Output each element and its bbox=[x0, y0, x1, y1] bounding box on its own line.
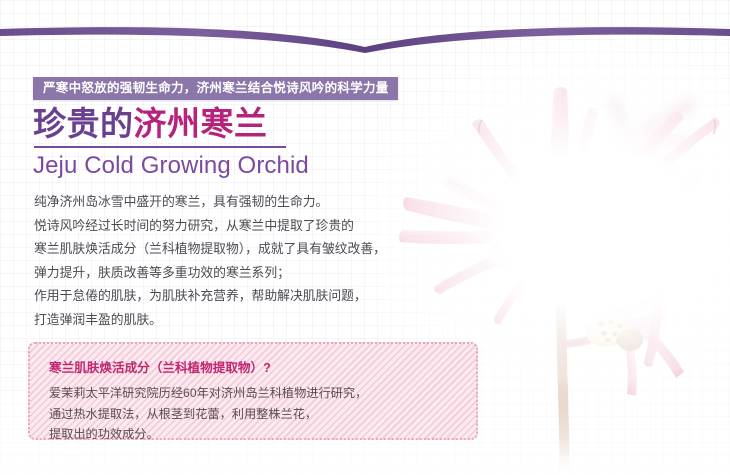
page-title: 珍贵的济州寒兰 bbox=[33, 104, 268, 144]
info-box-heading: 寒兰肌肤焕活成分（兰科植物提取物）? bbox=[49, 357, 476, 376]
title-underline-rule bbox=[34, 146, 286, 148]
tagline-banner: 严寒中怒放的强韧生命力，济州寒兰结合悦诗风吟的科学力量 bbox=[33, 77, 398, 100]
body-line: 悦诗风吟经过长时间的努力研究，从寒兰中提取了珍贵的 bbox=[34, 214, 444, 238]
info-box-body: 爱茉莉太平洋研究院历经60年对济州岛兰科植物进行研究， 通过热水提取法，从根茎到… bbox=[49, 383, 476, 445]
body-copy: 纯净济州岛冰雪中盛开的寒兰，具有强韧的生命力。 悦诗风吟经过长时间的努力研究，从… bbox=[34, 190, 444, 331]
top-purple-swoosh-divider bbox=[0, 0, 730, 62]
page-subtitle: Jeju Cold Growing Orchid bbox=[33, 150, 309, 182]
info-box-line: 通过热水提取法，从根茎到花蕾，利用整株兰花， bbox=[49, 404, 476, 425]
body-line: 纯净济州岛冰雪中盛开的寒兰，具有强韧的生命力。 bbox=[34, 190, 444, 214]
page-title-highlight: 济州寒兰 bbox=[134, 105, 268, 142]
body-line: 弹力提升，肤质改善等多重功效的寒兰系列； bbox=[34, 261, 444, 285]
page-title-prefix: 珍贵的 bbox=[33, 105, 134, 142]
info-box-line: 爱茉莉太平洋研究院历经60年对济州岛兰科植物进行研究， bbox=[49, 383, 476, 404]
body-line: 打造弹润丰盈的肌肤。 bbox=[34, 308, 444, 332]
info-box-line: 提取出的功效成分。 bbox=[49, 424, 476, 445]
body-line: 作用于怠倦的肌肤，为肌肤补充营养，帮助解决肌肤问题， bbox=[34, 284, 444, 308]
ingredient-info-box: 寒兰肌肤焕活成分（兰科植物提取物）? 爱茉莉太平洋研究院历经60年对济州岛兰科植… bbox=[28, 342, 478, 440]
body-line: 寒兰肌肤焕活成分（兰科植物提取物），成就了具有皱纹改善， bbox=[34, 237, 444, 261]
promo-banner-page: 严寒中怒放的强韧生命力，济州寒兰结合悦诗风吟的科学力量 珍贵的济州寒兰 Jeju… bbox=[0, 0, 730, 475]
